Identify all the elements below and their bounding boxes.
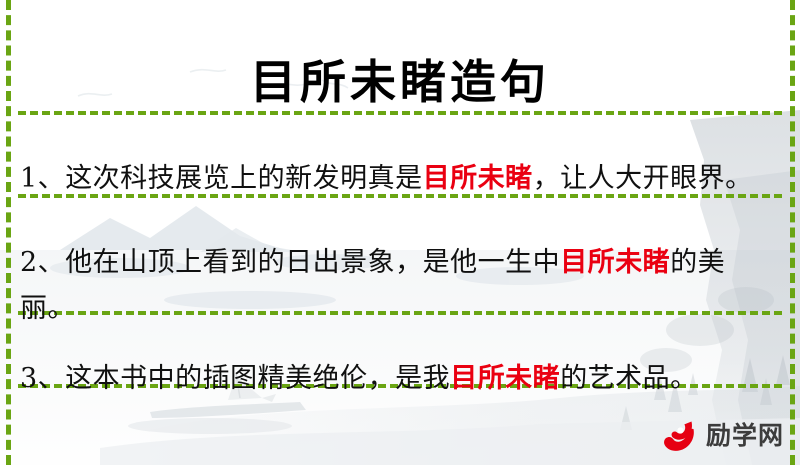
site-watermark: 励学网 [660, 414, 784, 458]
idiom-highlight-1: 目所未睹 [423, 163, 533, 194]
sentence-item-2: 2、他在山顶上看到的日出景象，是他一生中目所未睹的美丽。 [20, 240, 760, 332]
sentence-text-after-3: 的艺术品。 [560, 363, 698, 394]
swirl-flame-logo-icon [660, 416, 700, 456]
sentence-item-1: 1、这次科技展览上的新发明真是目所未睹，让人大开眼界。 [20, 156, 772, 202]
idiom-highlight-2: 目所未睹 [560, 247, 670, 278]
sentence-text-before-1: 这次科技展览上的新发明真是 [65, 163, 423, 194]
sentence-number-3: 3、 [20, 363, 65, 394]
page-title: 目所未睹造句 [0, 53, 800, 111]
sentence-item-3: 3、这本书中的插图精美绝伦，是我目所未睹的艺术品。 [20, 356, 772, 402]
idiom-highlight-3: 目所未睹 [450, 363, 560, 394]
sentence-text-before-3: 这本书中的插图精美绝伦，是我 [65, 363, 450, 394]
page-root: 目所未睹造句 1、这次科技展览上的新发明真是目所未睹，让人大开眼界。 2、他在山… [0, 0, 800, 465]
site-watermark-label: 励学网 [706, 422, 784, 450]
sentence-number-1: 1、 [20, 163, 65, 194]
sentence-number-2: 2、 [20, 247, 65, 278]
sentence-text-after-1: ，让人大开眼界。 [533, 163, 753, 194]
sentence-text-before-2: 他在山顶上看到的日出景象，是他一生中 [65, 247, 560, 278]
divider-top [18, 111, 782, 115]
